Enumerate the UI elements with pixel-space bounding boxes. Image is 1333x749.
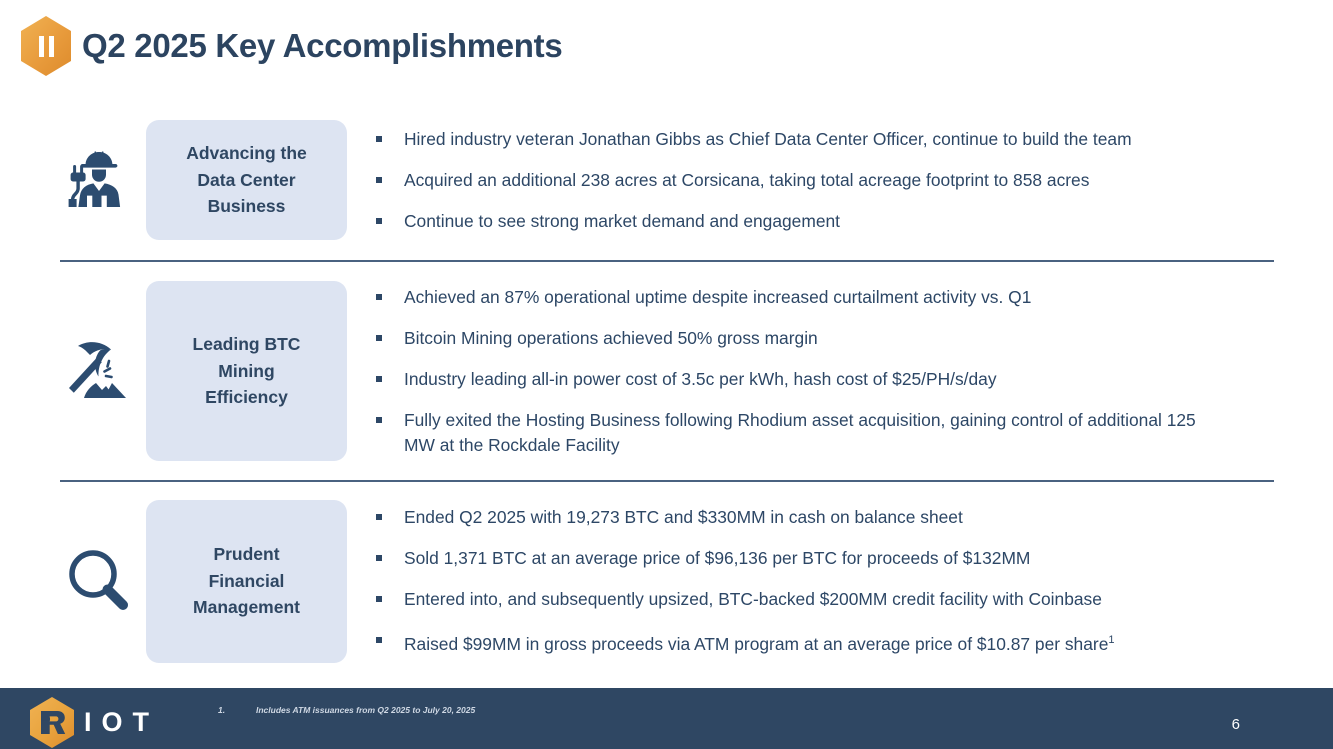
bullet-square-icon <box>376 335 382 341</box>
slide-footer: IOT 1. Includes ATM issuances from Q2 20… <box>0 688 1333 749</box>
bullet-text: Continue to see strong market demand and… <box>404 209 1293 234</box>
pause-bars <box>39 36 54 57</box>
footnote-number: 1. <box>218 705 256 715</box>
bullet-square-icon <box>376 376 382 382</box>
section-label-btc-mining: Leading BTC Mining Efficiency <box>146 281 347 461</box>
list-item: Sold 1,371 BTC at an average price of $9… <box>376 546 1293 571</box>
section-financial-management: Prudent Financial Management Ended Q2 20… <box>0 482 1333 680</box>
bullet-text: Entered into, and subsequently upsized, … <box>404 587 1293 612</box>
riot-logo: IOT <box>28 696 159 749</box>
bullet-list: Achieved an 87% operational uptime despi… <box>376 285 1333 458</box>
bullet-text: Raised $99MM in gross proceeds via ATM p… <box>404 634 1108 654</box>
accomplishments-list: Advancing the Data Center Business Hired… <box>0 100 1333 680</box>
bullet-square-icon <box>376 294 382 300</box>
list-item: Fully exited the Hosting Business follow… <box>376 408 1293 458</box>
bullet-text: Achieved an 87% operational uptime despi… <box>404 285 1293 310</box>
bullet-square-icon <box>376 417 382 423</box>
page-title: Q2 2025 Key Accomplishments <box>82 27 562 65</box>
list-item: Acquired an additional 238 acres at Cors… <box>376 168 1293 193</box>
bullet-text: Industry leading all-in power cost of 3.… <box>404 367 1293 392</box>
label-line: Mining <box>193 358 301 385</box>
label-line: Business <box>186 193 307 220</box>
label-line: Leading BTC <box>193 331 301 358</box>
bullet-text: Hired industry veteran Jonathan Gibbs as… <box>404 127 1293 152</box>
list-item: Continue to see strong market demand and… <box>376 209 1293 234</box>
bullet-text: Acquired an additional 238 acres at Cors… <box>404 168 1293 193</box>
section-label-financial-management: Prudent Financial Management <box>146 500 347 663</box>
riot-wordmark: IOT <box>84 707 159 738</box>
label-line: Financial <box>193 568 300 595</box>
footnote: 1. Includes ATM issuances from Q2 2025 t… <box>218 705 475 715</box>
bullet-square-icon <box>376 596 382 602</box>
list-item: Bitcoin Mining operations achieved 50% g… <box>376 326 1293 351</box>
bullet-list: Hired industry veteran Jonathan Gibbs as… <box>376 127 1333 234</box>
section-label-data-center: Advancing the Data Center Business <box>146 120 347 240</box>
list-item: Entered into, and subsequently upsized, … <box>376 587 1293 612</box>
list-item: Hired industry veteran Jonathan Gibbs as… <box>376 127 1293 152</box>
bullet-text: Bitcoin Mining operations achieved 50% g… <box>404 326 1293 351</box>
label-line: Prudent <box>193 541 300 568</box>
label-line: Efficiency <box>193 384 301 411</box>
bullet-list: Ended Q2 2025 with 19,273 BTC and $330MM… <box>376 505 1333 657</box>
riot-hexagon-r-icon <box>28 696 76 749</box>
page-number: 6 <box>1232 716 1240 733</box>
footnote-text: Includes ATM issuances from Q2 2025 to J… <box>256 705 475 715</box>
section-data-center: Advancing the Data Center Business Hired… <box>0 100 1333 260</box>
bullet-square-icon <box>376 555 382 561</box>
slide-header: Q2 2025 Key Accomplishments <box>0 0 1333 92</box>
worker-with-power-plug-icon <box>50 144 146 216</box>
label-line: Management <box>193 594 300 621</box>
bullet-text: Sold 1,371 BTC at an average price of $9… <box>404 546 1293 571</box>
footnote-marker: 1 <box>1108 634 1114 646</box>
list-item: Raised $99MM in gross proceeds via ATM p… <box>376 628 1293 657</box>
label-line: Advancing the <box>186 140 307 167</box>
list-item: Industry leading all-in power cost of 3.… <box>376 367 1293 392</box>
list-item: Ended Q2 2025 with 19,273 BTC and $330MM… <box>376 505 1293 530</box>
bullet-text-with-footnote: Raised $99MM in gross proceeds via ATM p… <box>404 628 1293 657</box>
bullet-square-icon <box>376 637 382 643</box>
bullet-square-icon <box>376 177 382 183</box>
bullet-square-icon <box>376 136 382 142</box>
pause-hexagon-icon <box>19 15 73 77</box>
bullet-square-icon <box>376 218 382 224</box>
bullet-text: Ended Q2 2025 with 19,273 BTC and $330MM… <box>404 505 1293 530</box>
label-line: Data Center <box>186 167 307 194</box>
bullet-square-icon <box>376 514 382 520</box>
list-item: Achieved an 87% operational uptime despi… <box>376 285 1293 310</box>
section-btc-mining: Leading BTC Mining Efficiency Achieved a… <box>0 262 1333 480</box>
bullet-text: Fully exited the Hosting Business follow… <box>404 408 1204 458</box>
magnifying-glass-icon <box>50 545 146 617</box>
pickaxe-mining-icon <box>50 336 146 406</box>
